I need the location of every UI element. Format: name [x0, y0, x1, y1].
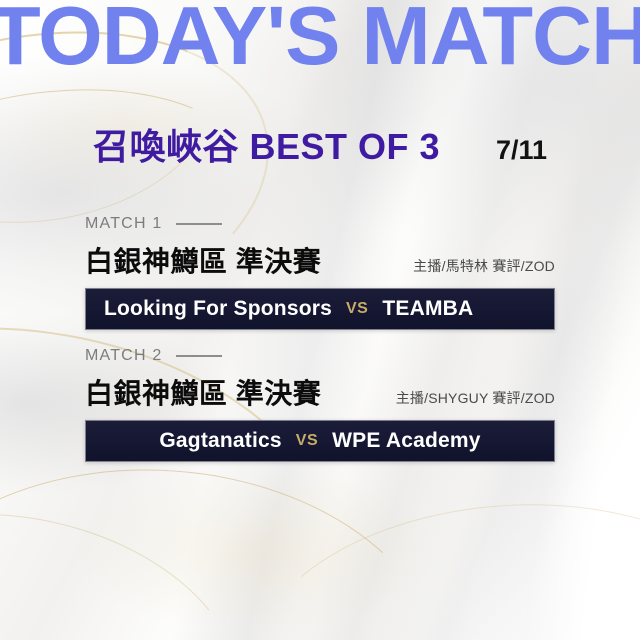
- match-block-1: MATCH 1 白銀神鱒區 準決賽 主播/馬特林 賽評/ZOD Looking …: [85, 212, 555, 330]
- subtitle-row: 召喚峽谷 BEST OF 3 7/11: [0, 118, 640, 170]
- subtitle-mode-label: 召喚峽谷 BEST OF 3: [93, 118, 440, 170]
- stage-row: 白銀神鱒區 準決賽 主播/SHYGUY 賽評/ZOD: [85, 372, 555, 412]
- stage-name: 白銀神鱒區 準決賽: [85, 372, 321, 412]
- team-b-name: WPE Academy: [332, 429, 480, 453]
- match-block-2: MATCH 2 白銀神鱒區 準決賽 主播/SHYGUY 賽評/ZOD Gagta…: [85, 344, 555, 462]
- date-label: 7/11: [496, 135, 547, 166]
- stage-name: 白銀神鱒區 準決賽: [85, 240, 321, 280]
- tournament-schedule-poster: TODAY'S MATCH 召喚峽谷 BEST OF 3 7/11 MATCH …: [0, 0, 640, 640]
- match-tag-row: MATCH 2: [85, 344, 555, 368]
- caster-credits: 主播/SHYGUY 賽評/ZOD: [396, 388, 555, 411]
- team-b-name: TEAMBA: [382, 297, 473, 321]
- team-a-name: Gagtanatics: [159, 429, 281, 453]
- match-tag-rule: [176, 223, 222, 225]
- vs-label: VS: [296, 432, 318, 450]
- vs-label: VS: [346, 300, 368, 318]
- matchup-bar: Looking For Sponsors VS TEAMBA: [85, 288, 555, 330]
- match-tag: MATCH 1: [85, 215, 162, 233]
- page-title: TODAY'S MATCH: [0, 0, 640, 77]
- match-tag-rule: [176, 355, 222, 357]
- team-a-name: Looking For Sponsors: [104, 297, 332, 321]
- stage-row: 白銀神鱒區 準決賽 主播/馬特林 賽評/ZOD: [85, 240, 555, 280]
- caster-credits: 主播/馬特林 賽評/ZOD: [413, 256, 555, 279]
- match-tag-row: MATCH 1: [85, 212, 555, 236]
- matchup-bar: Gagtanatics VS WPE Academy: [85, 420, 555, 462]
- match-list: MATCH 1 白銀神鱒區 準決賽 主播/馬特林 賽評/ZOD Looking …: [85, 212, 555, 476]
- match-tag: MATCH 2: [85, 347, 162, 365]
